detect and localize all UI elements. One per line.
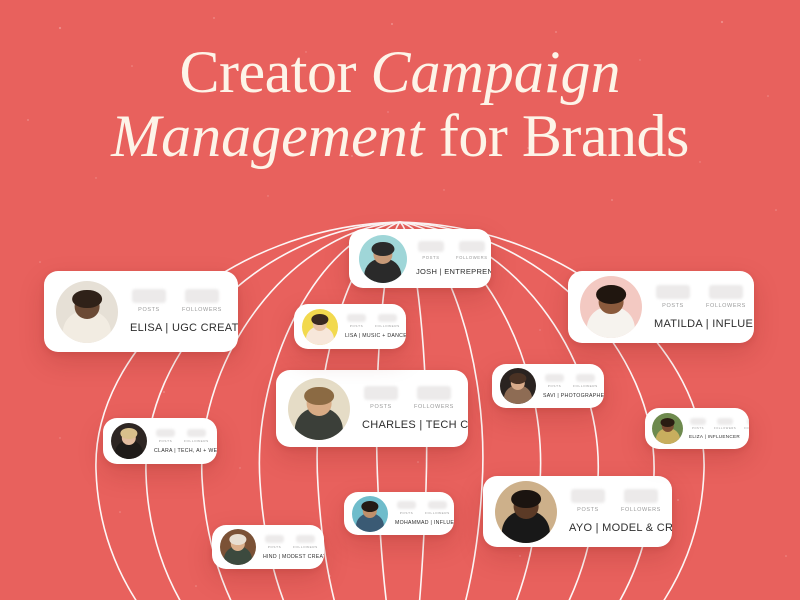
avatar-hair-shape [72,290,102,309]
stat-value-posts-placeholder [347,314,366,322]
stat-followers: FOLLOWERS [573,374,598,388]
stat-posts: POSTS [690,418,706,430]
stat-followers: FOLLOWERS [375,314,400,328]
stats-row: POSTSFOLLOWERSFOLLOWING [364,386,468,410]
avatar-charles [288,378,350,440]
avatar-hair-shape [509,373,526,384]
creator-card-ayo[interactable]: POSTSFOLLOWERSFOLLOWINGAYO | MODEL & CRE… [483,476,672,547]
card-body-charles: POSTSFOLLOWERSFOLLOWINGCHARLES | TECH CR… [362,386,468,431]
stat-label-posts: POSTS [159,439,173,443]
stat-value-posts-placeholder [690,418,706,425]
stat-label-posts: POSTS [400,511,414,515]
creator-name-matilda: MATILDA | INFLUENCER [654,318,754,330]
card-body-elisa: POSTSFOLLOWERSFOLLOWINGELISA | UGC CREAT… [130,289,238,334]
stat-value-followers-placeholder [296,535,315,543]
stat-value-followers-placeholder [624,489,658,503]
stat-value-posts-placeholder [156,429,175,437]
stat-followers: FOLLOWERS [182,289,222,313]
creator-name-charles: CHARLES | TECH CREATOR [362,419,468,431]
stat-posts: POSTS [364,386,398,410]
stat-label-followers: FOLLOWERS [375,324,400,328]
stat-label-posts: POSTS [548,384,562,388]
stats-row: POSTSFOLLOWERSFOLLOWING [347,314,406,328]
avatar-hair-shape [361,501,378,512]
stat-label-followers: FOLLOWERS [293,545,318,549]
stat-value-posts-placeholder [265,535,284,543]
stats-row: POSTSFOLLOWERSFOLLOWING [690,418,749,430]
stat-value-posts-placeholder [656,285,690,299]
creator-card-elisa[interactable]: POSTSFOLLOWERSFOLLOWINGELISA | UGC CREAT… [44,271,238,352]
creator-name-hind: HIND | MODEST CREATOR [263,554,324,560]
stat-value-posts-placeholder [364,386,398,400]
avatar-josh [359,235,407,283]
creator-name-elisa: ELISA | UGC CREATOR [130,322,238,334]
avatar-hair-shape [596,285,626,304]
stat-label-followers: FOLLOWERS [714,427,736,430]
stat-label-followers: FOLLOWERS [573,384,598,388]
stat-value-followers-placeholder [428,501,447,509]
stats-row: POSTSFOLLOWERSFOLLOWING [397,501,454,515]
stat-label-posts: POSTS [350,324,364,328]
stat-label-following: FOLLOWING [744,427,749,430]
card-body-lisa: POSTSFOLLOWERSFOLLOWINGLISA | MUSIC + DA… [345,314,406,339]
stat-following: FOLLOWING [744,418,749,430]
stat-followers: FOLLOWERS [425,501,450,515]
stat-label-posts: POSTS [422,255,439,260]
avatar-mohammad [352,496,388,532]
stat-value-following-placeholder [747,418,749,425]
card-body-clara: POSTSFOLLOWERSFOLLOWINGCLARA | TECH, AI … [154,429,217,454]
card-body-ayo: POSTSFOLLOWERSFOLLOWINGAYO | MODEL & CRE… [569,489,672,534]
stat-label-posts: POSTS [692,427,704,430]
creator-card-clara[interactable]: POSTSFOLLOWERSFOLLOWINGCLARA | TECH, AI … [103,418,217,464]
stat-posts: POSTS [132,289,166,313]
stat-value-followers-placeholder [459,241,485,252]
stat-value-posts-placeholder [545,374,564,382]
stat-followers: FOLLOWERS [414,386,454,410]
avatar-clara [111,423,147,459]
stat-label-posts: POSTS [662,303,684,309]
stat-label-followers: FOLLOWERS [456,255,488,260]
stat-value-posts-placeholder [418,241,444,252]
title-line-1: Creator Campaign [0,44,800,102]
creator-name-clara: CLARA | TECH, AI + WEB3 [154,448,217,454]
avatar-elisa [56,281,118,343]
creator-card-mohammad[interactable]: POSTSFOLLOWERSFOLLOWINGMOHAMMAD | INFLUE… [344,492,454,535]
stat-value-followers-placeholder [378,314,397,322]
creator-card-charles[interactable]: POSTSFOLLOWERSFOLLOWINGCHARLES | TECH CR… [276,370,468,447]
creator-card-lisa[interactable]: POSTSFOLLOWERSFOLLOWINGLISA | MUSIC + DA… [294,304,406,349]
stat-posts: POSTS [418,241,444,260]
avatar-eliza [652,413,683,444]
stat-label-followers: FOLLOWERS [182,307,222,313]
stats-row: POSTSFOLLOWERSFOLLOWING [571,489,672,513]
stat-posts: POSTS [347,314,366,328]
stat-value-followers-placeholder [417,386,451,400]
poster-canvas: Creator Campaign Management for Brands P… [0,0,800,600]
stat-posts: POSTS [571,489,605,513]
stats-row: POSTSFOLLOWERSFOLLOWING [545,374,604,388]
stat-posts: POSTS [265,535,284,549]
avatar-matilda [580,276,642,338]
card-body-savi: POSTSFOLLOWERSFOLLOWINGSAVI | PHOTOGRAPH… [543,374,604,399]
title-word-campaign: Campaign [370,39,620,105]
stat-posts: POSTS [397,501,416,515]
card-body-josh: POSTSFOLLOWERSFOLLOWINGJOSH | ENTREPRENE… [416,241,491,276]
creator-name-eliza: ELIZA | INFLUENCER [689,434,749,439]
title-line-2: Management for Brands [0,108,800,166]
creator-card-eliza[interactable]: POSTSFOLLOWERSFOLLOWINGELIZA | INFLUENCE… [645,408,749,449]
stats-row: POSTSFOLLOWERSFOLLOWING [132,289,238,313]
stat-label-followers: FOLLOWERS [184,439,209,443]
stat-posts: POSTS [156,429,175,443]
creator-name-savi: SAVI | PHOTOGRAPHER [543,393,604,399]
creator-name-josh: JOSH | ENTREPRENEUR [416,267,491,276]
avatar-hair-shape [120,428,137,439]
title-word-creator: Creator [180,39,371,105]
card-body-matilda: POSTSFOLLOWERSFOLLOWINGMATILDA | INFLUEN… [654,285,754,330]
creator-name-lisa: LISA | MUSIC + DANCER [345,333,406,339]
page-title: Creator Campaign Management for Brands [0,44,800,165]
avatar-savi [500,368,536,404]
stat-value-followers-placeholder [185,289,219,303]
stat-label-followers: FOLLOWERS [621,507,661,513]
stat-posts: POSTS [656,285,690,309]
creator-card-matilda[interactable]: POSTSFOLLOWERSFOLLOWINGMATILDA | INFLUEN… [568,271,754,343]
stat-label-posts: POSTS [370,404,392,410]
avatar-ayo [495,481,557,543]
stat-value-followers-placeholder [187,429,206,437]
stats-row: POSTSFOLLOWERSFOLLOWING [265,535,324,549]
stats-row: POSTSFOLLOWERSFOLLOWING [656,285,754,309]
stat-value-followers-placeholder [717,418,733,425]
card-body-hind: POSTSFOLLOWERSFOLLOWINGHIND | MODEST CRE… [263,535,324,560]
stats-row: POSTSFOLLOWERSFOLLOWING [418,241,491,260]
stats-row: POSTSFOLLOWERSFOLLOWING [156,429,217,443]
stat-label-followers: FOLLOWERS [425,511,450,515]
stat-value-posts-placeholder [397,501,416,509]
stat-label-followers: FOLLOWERS [414,404,454,410]
creator-name-ayo: AYO | MODEL & CREATOR [569,522,672,534]
stat-value-followers-placeholder [709,285,743,299]
stat-value-posts-placeholder [132,289,166,303]
stat-followers: FOLLOWERS [621,489,661,513]
stat-label-posts: POSTS [577,507,599,513]
title-words-for-brands: for Brands [424,103,688,169]
avatar-hair-shape [229,534,246,545]
stat-followers: FOLLOWERS [706,285,746,309]
stat-followers: FOLLOWERS [456,241,488,260]
stat-value-followers-placeholder [576,374,595,382]
creator-card-savi[interactable]: POSTSFOLLOWERSFOLLOWINGSAVI | PHOTOGRAPH… [492,364,604,408]
stat-followers: FOLLOWERS [714,418,736,430]
stat-label-followers: FOLLOWERS [706,303,746,309]
creator-card-josh[interactable]: POSTSFOLLOWERSFOLLOWINGJOSH | ENTREPRENE… [349,229,491,288]
stat-posts: POSTS [545,374,564,388]
avatar-hair-shape [304,387,334,406]
stat-label-posts: POSTS [268,545,282,549]
creator-name-mohammad: MOHAMMAD | INFLUENCER [395,520,454,526]
creator-card-hind[interactable]: POSTSFOLLOWERSFOLLOWINGHIND | MODEST CRE… [212,525,324,569]
card-body-mohammad: POSTSFOLLOWERSFOLLOWINGMOHAMMAD | INFLUE… [395,501,454,526]
stat-label-posts: POSTS [138,307,160,313]
stat-followers: FOLLOWERS [184,429,209,443]
avatar-hind [220,529,256,565]
stat-followers: FOLLOWERS [293,535,318,549]
avatar-hair-shape [511,490,541,509]
title-word-management: Management [111,103,424,169]
avatar-hair-shape [311,314,328,325]
stat-value-posts-placeholder [571,489,605,503]
avatar-lisa [302,309,338,345]
card-body-eliza: POSTSFOLLOWERSFOLLOWINGELIZA | INFLUENCE… [689,418,749,439]
